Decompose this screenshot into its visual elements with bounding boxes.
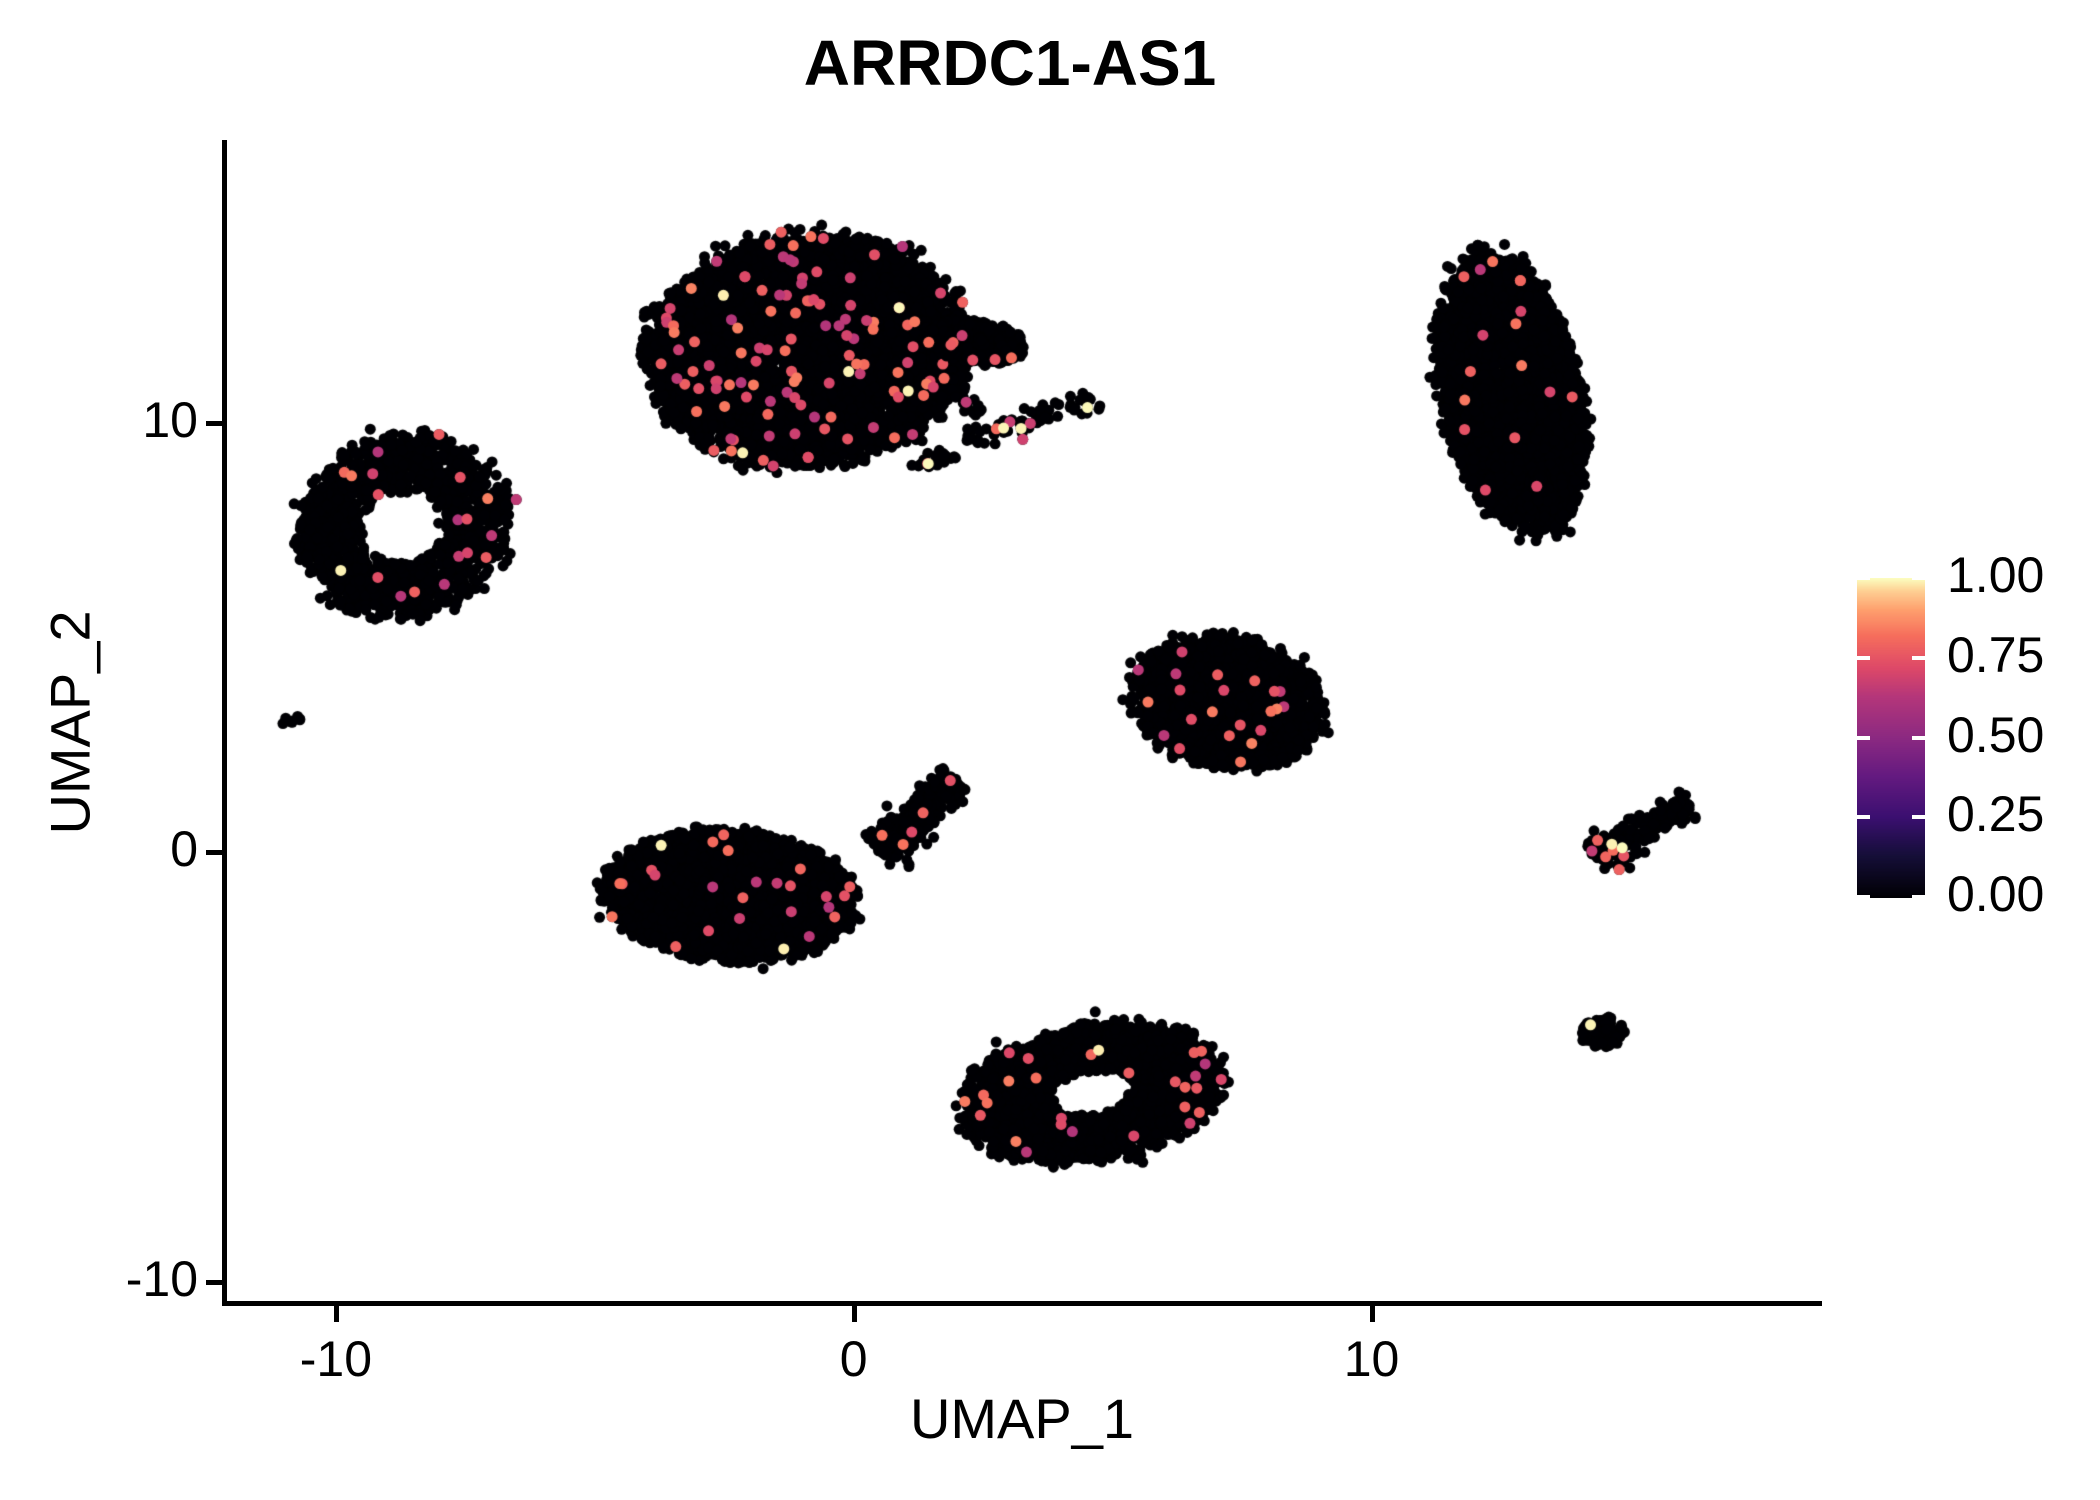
x-tick-mark bbox=[1370, 1306, 1375, 1322]
x-tick-label: 0 bbox=[754, 1330, 954, 1388]
colorbar-tick-mark bbox=[1857, 656, 1870, 660]
colorbar-tick-mark bbox=[1912, 895, 1925, 899]
x-tick-label: 10 bbox=[1272, 1330, 1472, 1388]
colorbar-tick-mark bbox=[1912, 576, 1925, 580]
colorbar-tick-mark bbox=[1857, 815, 1870, 819]
x-tick-mark bbox=[334, 1306, 339, 1322]
colorbar-tick-mark bbox=[1857, 576, 1870, 580]
x-tick-mark bbox=[852, 1306, 857, 1322]
colorbar-tick-mark bbox=[1857, 736, 1870, 740]
x-axis-title: UMAP_1 bbox=[222, 1386, 1822, 1451]
colorbar-tick-label: 0.00 bbox=[1947, 865, 2044, 923]
colorbar-tick-mark bbox=[1857, 895, 1870, 899]
page-title: ARRDC1-AS1 bbox=[0, 26, 2020, 100]
colorbar-tick-label: 0.50 bbox=[1947, 706, 2044, 764]
scatter-plot-canvas bbox=[222, 140, 1822, 1303]
colorbar-tick-label: 0.75 bbox=[1947, 626, 2044, 684]
y-axis-title: UMAP_2 bbox=[38, 123, 103, 1323]
x-tick-label: -10 bbox=[236, 1330, 436, 1388]
colorbar-tick-label: 0.25 bbox=[1947, 785, 2044, 843]
y-tick-mark bbox=[206, 421, 222, 426]
colorbar-tick-mark bbox=[1912, 815, 1925, 819]
y-tick-mark bbox=[206, 850, 222, 855]
x-axis-line bbox=[222, 1301, 1822, 1306]
y-tick-mark bbox=[206, 1280, 222, 1285]
umap-feature-plot: ARRDC1-AS1 100-10-10010 UMAP_1 UMAP_2 1.… bbox=[0, 0, 2100, 1500]
colorbar-tick-mark bbox=[1912, 736, 1925, 740]
colorbar-tick-mark bbox=[1912, 656, 1925, 660]
colorbar-tick-label: 1.00 bbox=[1947, 546, 2044, 604]
y-axis-line bbox=[222, 140, 227, 1306]
